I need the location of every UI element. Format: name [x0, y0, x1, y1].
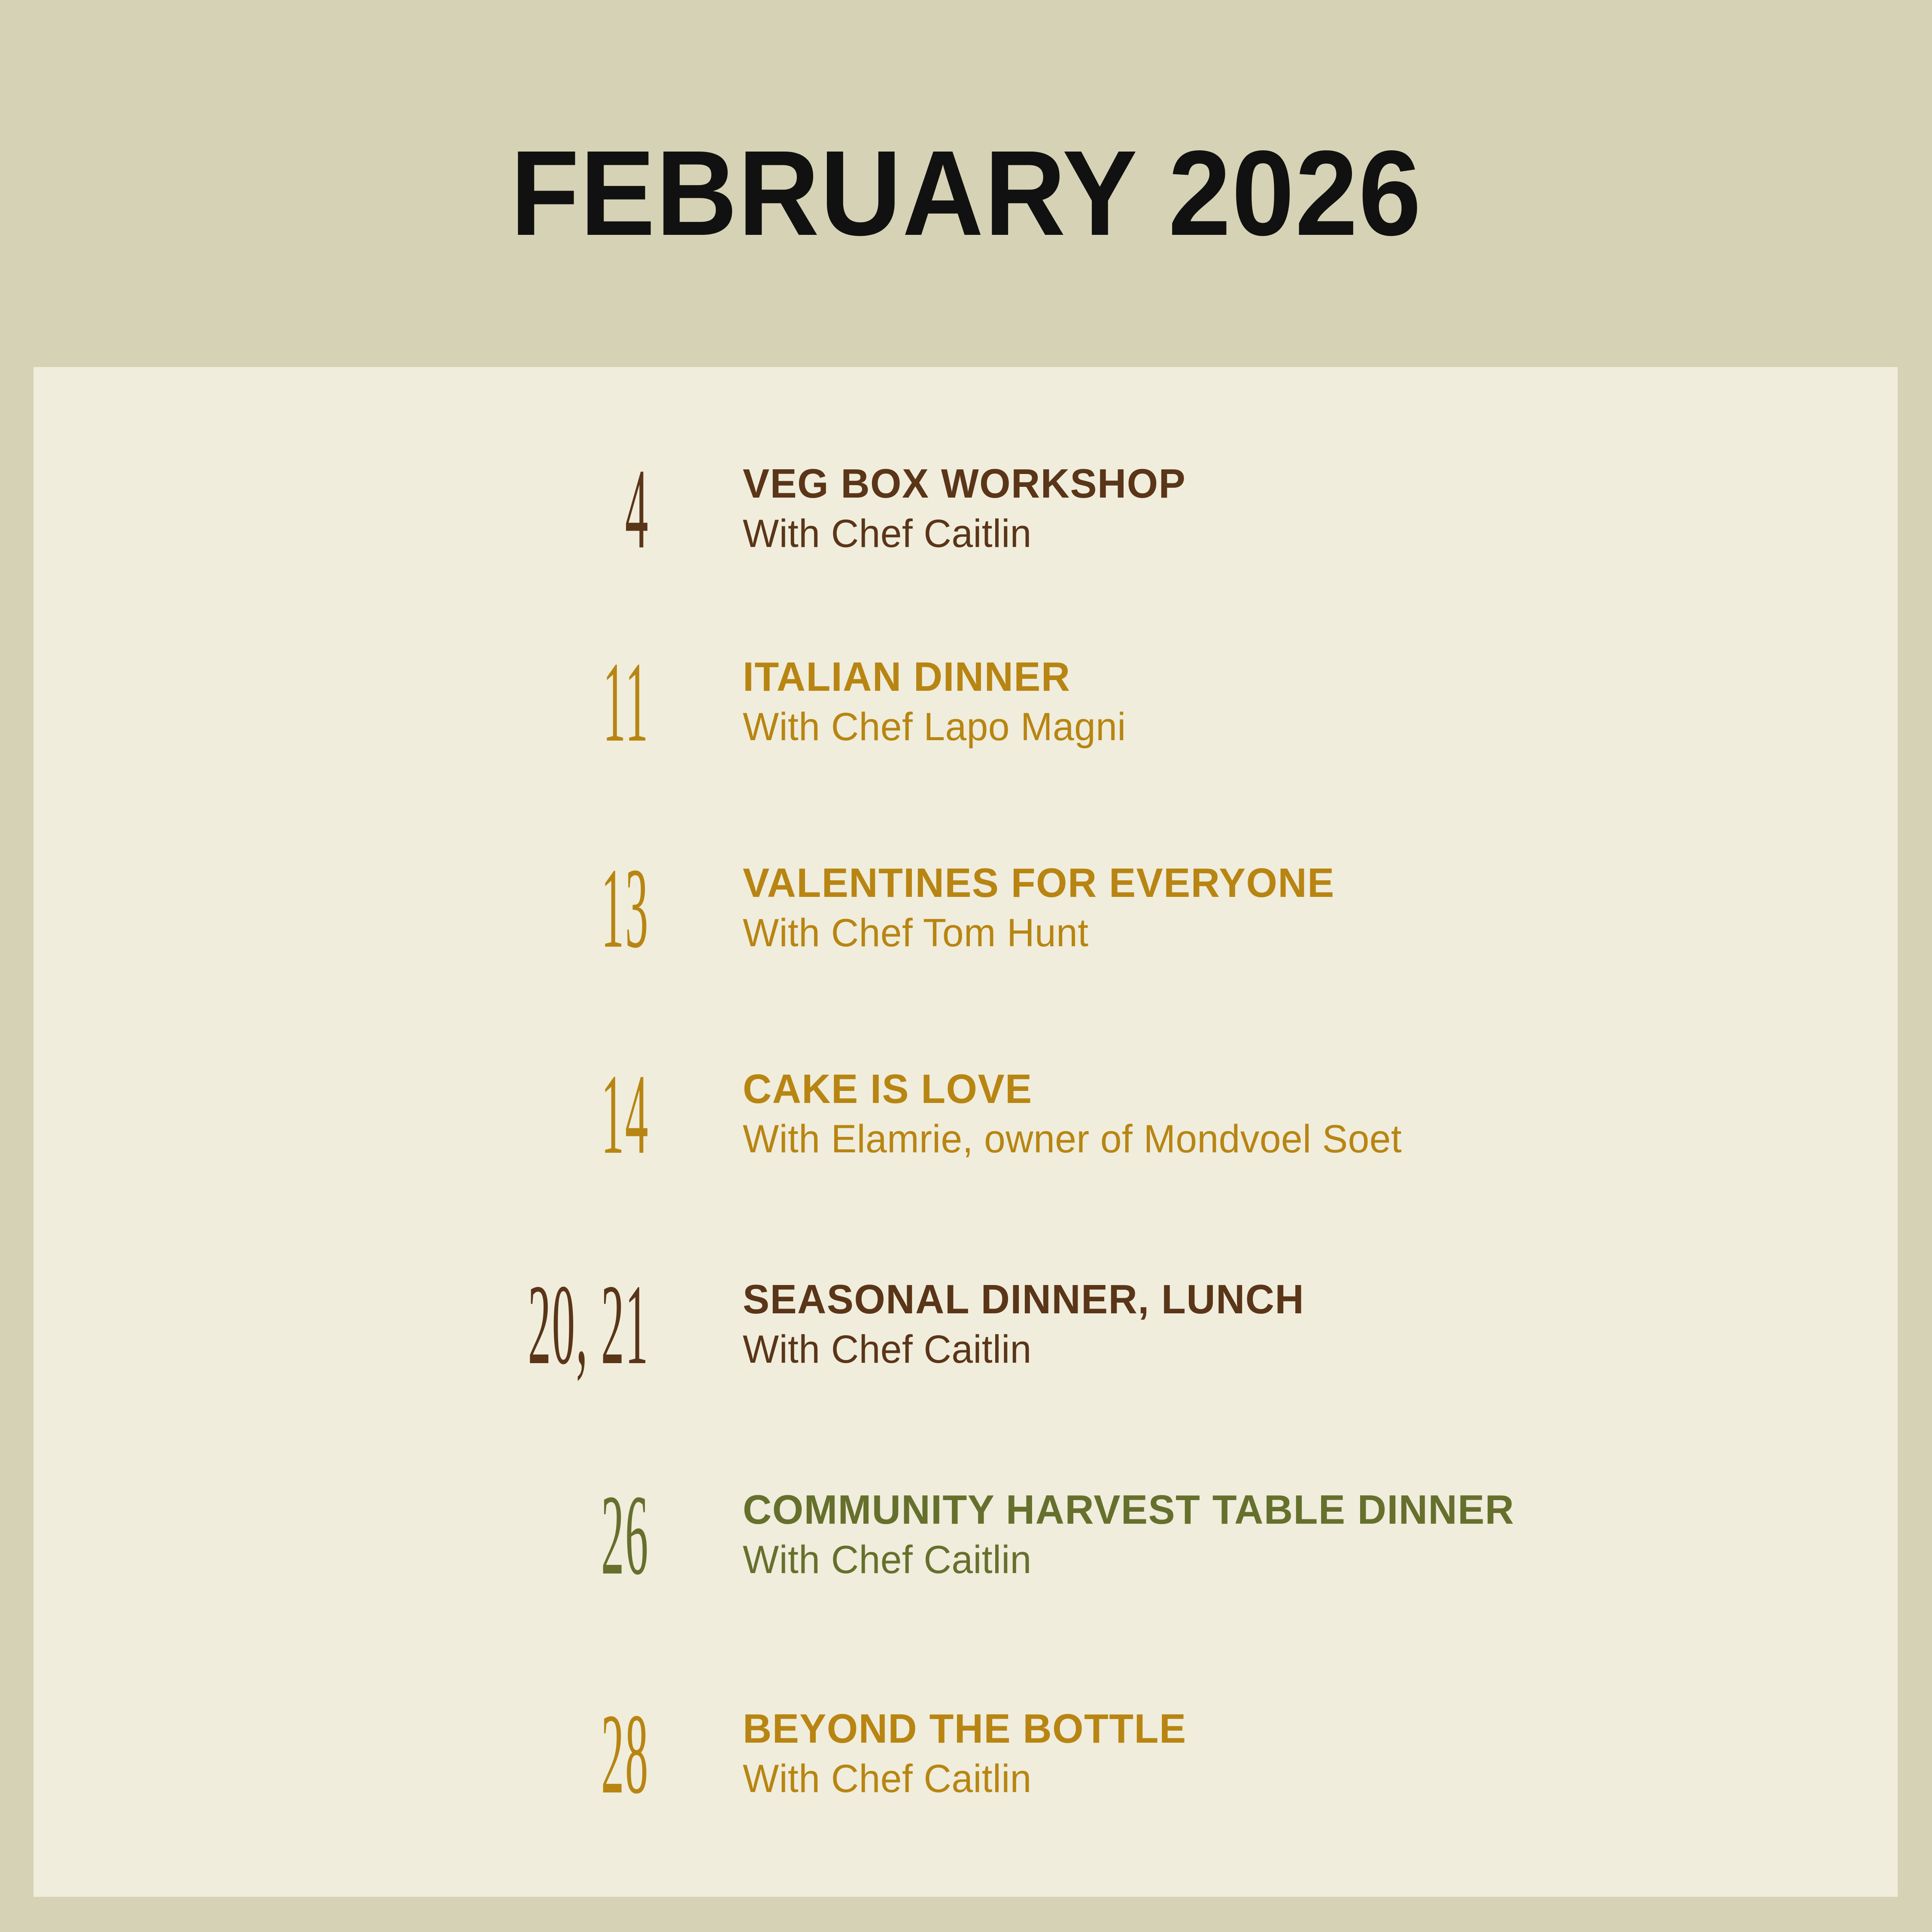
- list-item[interactable]: 13 VALENTINES FOR EVERYONE With Chef Tom…: [33, 841, 1898, 975]
- event-text-block: VEG BOX WORKSHOP With Chef Caitlin: [743, 462, 1898, 556]
- event-text-block: SEASONAL DINNER, LUNCH With Chef Caitlin: [743, 1277, 1898, 1372]
- event-text-block: VALENTINES FOR EVERYONE With Chef Tom Hu…: [743, 861, 1898, 956]
- event-title: COMMUNITY HARVEST TABLE DINNER: [743, 1488, 1863, 1532]
- calendar-poster: FEBRUARY 2026 4 VEG BOX WORKSHOP With Ch…: [0, 0, 1932, 1932]
- list-item[interactable]: 28 BEYOND THE BOTTLE With Chef Caitlin: [33, 1687, 1898, 1820]
- event-day-number: 11: [403, 644, 649, 759]
- event-subtitle: With Chef Tom Hunt: [743, 911, 1863, 955]
- event-day-number: 20, 21: [403, 1267, 649, 1382]
- event-title: CAKE IS LOVE: [743, 1067, 1863, 1112]
- event-text-block: ITALIAN DINNER With Chef Lapo Magni: [743, 655, 1898, 750]
- event-day-number: 13: [403, 851, 649, 966]
- event-title: BEYOND THE BOTTLE: [743, 1707, 1863, 1751]
- event-text-block: COMMUNITY HARVEST TABLE DINNER With Chef…: [743, 1488, 1898, 1583]
- event-title: VALENTINES FOR EVERYONE: [743, 861, 1863, 905]
- event-text-block: CAKE IS LOVE With Elamrie, owner of Mond…: [743, 1067, 1898, 1162]
- list-item[interactable]: 20, 21 SEASONAL DINNER, LUNCH With Chef …: [33, 1258, 1898, 1391]
- event-day-number: 4: [403, 451, 649, 566]
- list-item[interactable]: 4 VEG BOX WORKSHOP With Chef Caitlin: [33, 442, 1898, 575]
- event-subtitle: With Elamrie, owner of Mondvoel Soet: [743, 1117, 1863, 1161]
- list-item[interactable]: 26 COMMUNITY HARVEST TABLE DINNER With C…: [33, 1468, 1898, 1601]
- event-day-number: 14: [403, 1057, 649, 1172]
- event-title: VEG BOX WORKSHOP: [743, 462, 1863, 506]
- event-subtitle: With Chef Caitlin: [743, 1327, 1863, 1372]
- event-subtitle: With Chef Lapo Magni: [743, 705, 1863, 749]
- poster-header: FEBRUARY 2026: [0, 0, 1932, 367]
- event-title: SEASONAL DINNER, LUNCH: [743, 1277, 1863, 1322]
- event-subtitle: With Chef Caitlin: [743, 1538, 1863, 1582]
- page-title: FEBRUARY 2026: [510, 133, 1422, 254]
- event-text-block: BEYOND THE BOTTLE With Chef Caitlin: [743, 1707, 1898, 1801]
- event-subtitle: With Chef Caitlin: [743, 1757, 1863, 1801]
- event-day-number: 26: [403, 1477, 649, 1592]
- event-title: ITALIAN DINNER: [743, 655, 1863, 699]
- event-day-number: 28: [403, 1696, 649, 1811]
- list-item[interactable]: 11 ITALIAN DINNER With Chef Lapo Magni: [33, 635, 1898, 769]
- events-card: 4 VEG BOX WORKSHOP With Chef Caitlin 11 …: [33, 367, 1898, 1897]
- list-item[interactable]: 14 CAKE IS LOVE With Elamrie, owner of M…: [33, 1048, 1898, 1181]
- event-subtitle: With Chef Caitlin: [743, 512, 1863, 556]
- events-list: 4 VEG BOX WORKSHOP With Chef Caitlin 11 …: [33, 367, 1898, 1897]
